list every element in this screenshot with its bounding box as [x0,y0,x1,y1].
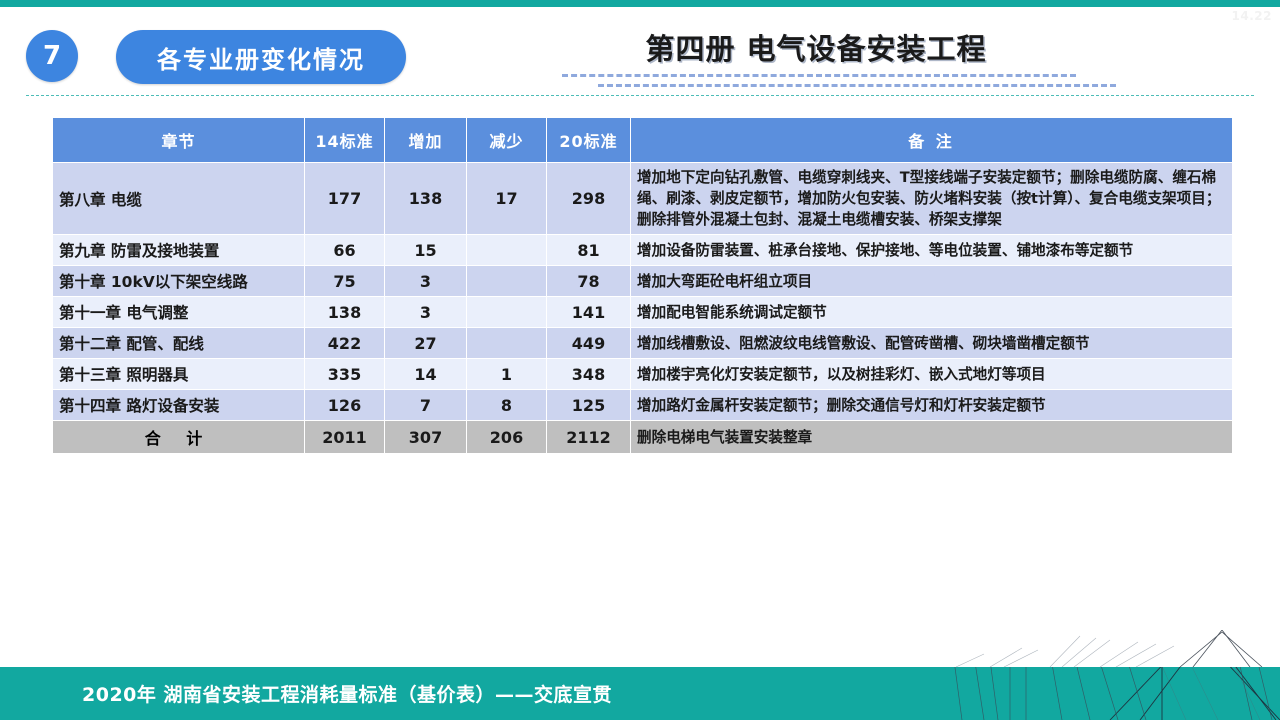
slide-footer: 2020年 湖南省安装工程消耗量标准（基价表）——交底宣贯 [0,667,1280,720]
cell-std20: 125 [547,390,631,421]
col-header-chapter: 章节 [53,118,305,163]
table-row: 第十章 10kV以下架空线路 75 3 78 增加大弯距砼电杆组立项目 [53,266,1233,297]
header-divider [26,95,1254,96]
cell-chapter: 第九章 防雷及接地装置 [53,235,305,266]
section-badge: 7 [26,30,78,82]
footer-title: 2020年 湖南省安装工程消耗量标准（基价表）——交底宣贯 [82,680,612,707]
cell-chapter: 第十二章 配管、配线 [53,328,305,359]
cell-std14: 66 [305,235,385,266]
title-underline-secondary [598,84,1116,90]
cell-total-increase: 307 [385,421,467,454]
col-header-std20: 20标准 [547,118,631,163]
table-row: 第十一章 电气调整 138 3 141 增加配电智能系统调试定额节 [53,297,1233,328]
cell-std14: 75 [305,266,385,297]
cell-decrease: 17 [467,163,547,235]
cell-increase: 138 [385,163,467,235]
cell-total-std14: 2011 [305,421,385,454]
table-header-row: 章节 14标准 增加 减少 20标准 备 注 [53,118,1233,163]
cell-increase: 14 [385,359,467,390]
cell-decrease: 1 [467,359,547,390]
col-header-increase: 增加 [385,118,467,163]
table-row: 第十三章 照明器具 335 14 1 348 增加楼宇亮化灯安装定额节，以及树挂… [53,359,1233,390]
cell-chapter: 第十四章 路灯设备安装 [53,390,305,421]
cell-std20: 449 [547,328,631,359]
cell-increase: 3 [385,297,467,328]
page-title: 第四册 电气设备安装工程 [556,26,1076,68]
cell-increase: 27 [385,328,467,359]
cell-std20: 78 [547,266,631,297]
cell-std20: 141 [547,297,631,328]
cell-increase: 15 [385,235,467,266]
cell-std20: 298 [547,163,631,235]
cell-decrease [467,328,547,359]
cell-increase: 3 [385,266,467,297]
title-underline-primary [562,74,1076,80]
main-title-block: 第四册 电气设备安装工程 [556,26,1076,90]
cell-total-std20: 2112 [547,421,631,454]
cell-remark: 增加地下定向钻孔敷管、电缆穿刺线夹、T型接线端子安装定额节；删除电缆防腐、缠石棉… [631,163,1233,235]
cell-chapter: 第八章 电缆 [53,163,305,235]
cell-total-label: 合 计 [53,421,305,454]
table-total-row: 合 计 2011 307 206 2112 删除电梯电气装置安装整章 [53,421,1233,454]
cell-std14: 335 [305,359,385,390]
cell-decrease [467,297,547,328]
cell-std14: 126 [305,390,385,421]
cell-std20: 348 [547,359,631,390]
top-accent-bar [0,0,1280,7]
cell-decrease [467,235,547,266]
cell-remark: 增加路灯金属杆安装定额节；删除交通信号灯和灯杆安装定额节 [631,390,1233,421]
footer-line-art [950,667,1280,720]
col-header-std14: 14标准 [305,118,385,163]
cell-chapter: 第十章 10kV以下架空线路 [53,266,305,297]
cell-std14: 138 [305,297,385,328]
slide-header: 7 各专业册变化情况 第四册 电气设备安装工程 [26,26,1254,88]
cell-remark: 增加大弯距砼电杆组立项目 [631,266,1233,297]
cell-total-remark: 删除电梯电气装置安装整章 [631,421,1233,454]
section-title-pill: 各专业册变化情况 [116,30,406,84]
table-header: 章节 14标准 增加 减少 20标准 备 注 [53,118,1233,163]
cell-decrease: 8 [467,390,547,421]
page-number: 14.22 [1232,9,1272,23]
table-row: 第十二章 配管、配线 422 27 449 增加线槽敷设、阻燃波纹电线管敷设、配… [53,328,1233,359]
table-row: 第八章 电缆 177 138 17 298 增加地下定向钻孔敷管、电缆穿刺线夹、… [53,163,1233,235]
cell-total-decrease: 206 [467,421,547,454]
cell-remark: 增加线槽敷设、阻燃波纹电线管敷设、配管砖凿槽、砌块墙凿槽定额节 [631,328,1233,359]
cell-increase: 7 [385,390,467,421]
cell-decrease [467,266,547,297]
cell-remark: 增加设备防雷装置、桩承台接地、保护接地、等电位装置、铺地漆布等定额节 [631,235,1233,266]
cell-chapter: 第十三章 照明器具 [53,359,305,390]
chapter-change-table-container: 章节 14标准 增加 减少 20标准 备 注 第八章 电缆 177 138 17… [52,117,1232,454]
cell-chapter: 第十一章 电气调整 [53,297,305,328]
cell-remark: 增加配电智能系统调试定额节 [631,297,1233,328]
cell-std20: 81 [547,235,631,266]
cell-std14: 177 [305,163,385,235]
cell-std14: 422 [305,328,385,359]
table-row: 第九章 防雷及接地装置 66 15 81 增加设备防雷装置、桩承台接地、保护接地… [53,235,1233,266]
table-body: 第八章 电缆 177 138 17 298 增加地下定向钻孔敷管、电缆穿刺线夹、… [53,163,1233,454]
footer-line-art-upper [950,630,1280,667]
table-row: 第十四章 路灯设备安装 126 7 8 125 增加路灯金属杆安装定额节；删除交… [53,390,1233,421]
chapter-change-table: 章节 14标准 增加 减少 20标准 备 注 第八章 电缆 177 138 17… [52,117,1233,454]
cell-remark: 增加楼宇亮化灯安装定额节，以及树挂彩灯、嵌入式地灯等项目 [631,359,1233,390]
col-header-remark: 备 注 [631,118,1233,163]
col-header-decrease: 减少 [467,118,547,163]
